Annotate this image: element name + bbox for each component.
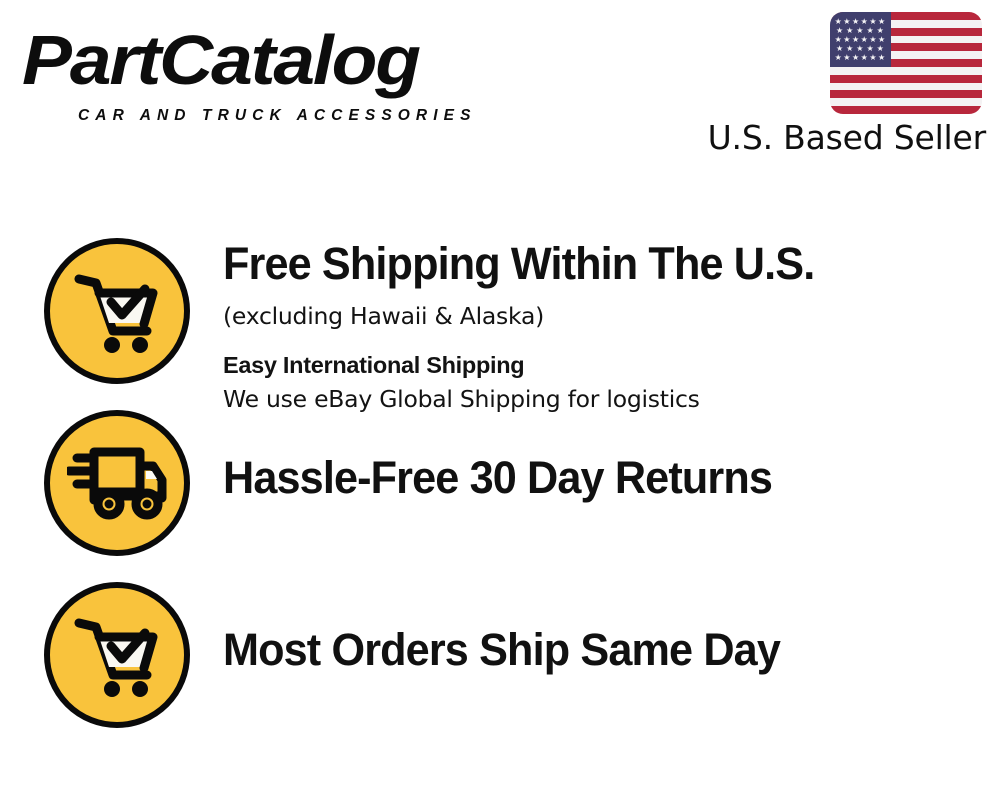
feature-title: Free Shipping Within The U.S. [223, 238, 962, 290]
delivery-truck-icon [44, 410, 190, 556]
feature-title: Hassle-Free 30 Day Returns [223, 452, 962, 504]
flag-canton [830, 12, 891, 67]
flag-stripe [830, 83, 982, 91]
us-based-seller-label: U.S. Based Seller [708, 117, 986, 159]
flag-stripe [830, 75, 982, 83]
feature-title: Most Orders Ship Same Day [223, 624, 962, 676]
feature-text-block: Most Orders Ship Same Day [223, 624, 993, 676]
feature-text-block: Hassle-Free 30 Day Returns [223, 452, 993, 504]
shopping-cart-check-icon [44, 238, 190, 384]
feature-row: Most Orders Ship Same Day [0, 582, 1000, 752]
feature-row: Free Shipping Within The U.S. (excluding… [0, 238, 1000, 408]
us-based-seller-block: U.S. Based Seller [716, 12, 986, 162]
flag-stripe [830, 106, 982, 114]
feature-row: Hassle-Free 30 Day Returns [0, 410, 1000, 578]
brand-tagline: CAR AND TRUCK ACCESSORIES [78, 108, 477, 124]
brand-logo[interactable]: PartCatalog CAR AND TRUCK ACCESSORIES [22, 24, 492, 114]
feature-subtitle: Easy International Shipping [223, 348, 993, 382]
feature-note: (excluding Hawaii & Alaska) [223, 299, 993, 333]
flag-stripe [830, 90, 982, 98]
shopping-cart-check-icon [44, 582, 190, 728]
page-header: PartCatalog CAR AND TRUCK ACCESSORIES [0, 0, 1000, 175]
feature-text-block: Free Shipping Within The U.S. (excluding… [223, 238, 993, 416]
us-flag-icon [830, 12, 982, 114]
flag-stripe [830, 67, 982, 75]
flag-stripe [830, 98, 982, 106]
brand-wordmark: PartCatalog [22, 24, 419, 96]
